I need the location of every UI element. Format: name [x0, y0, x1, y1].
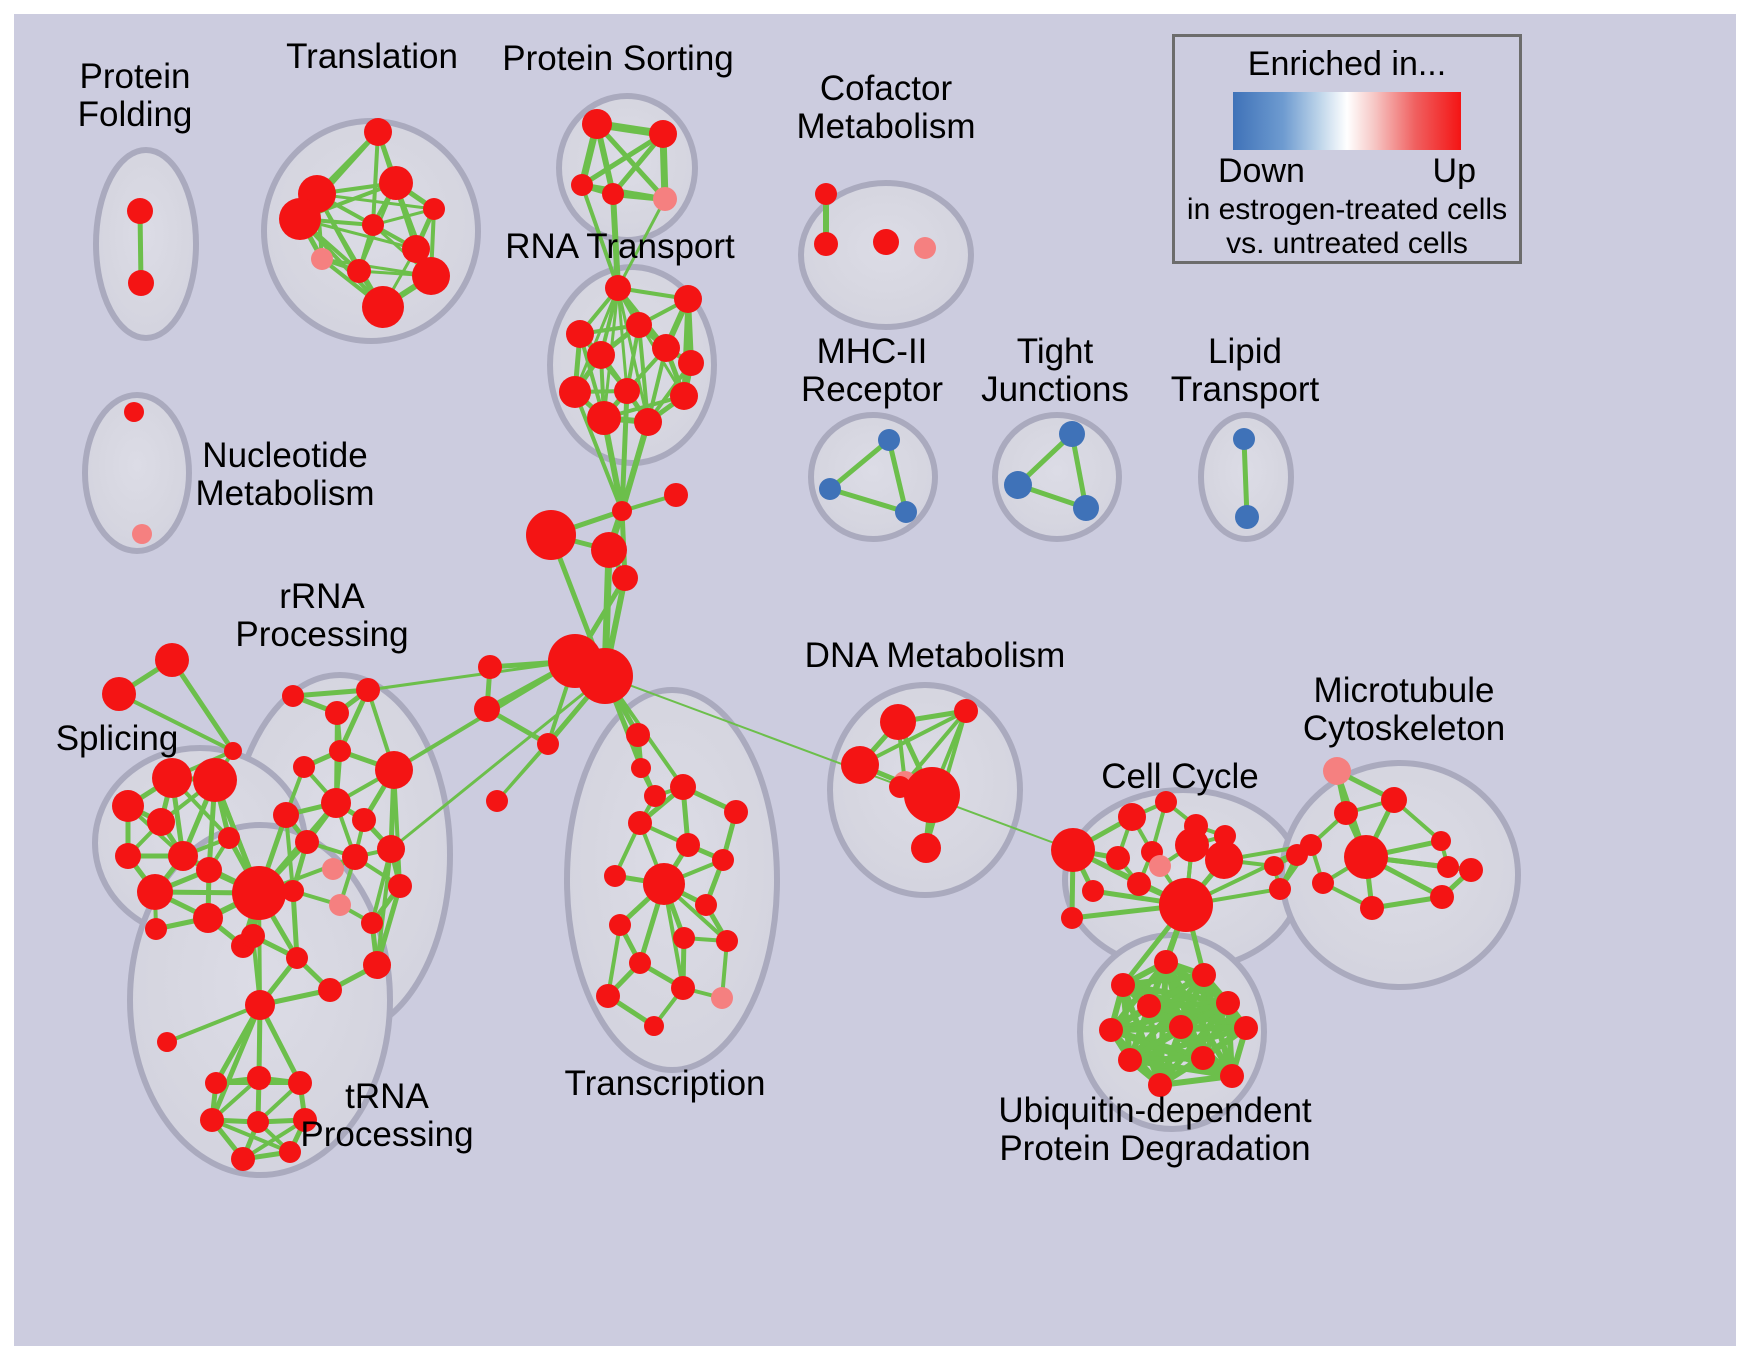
cluster-label-line: Processing [300, 1116, 473, 1154]
cluster-label-line: Transport [1171, 371, 1319, 409]
network-node[interactable] [1106, 846, 1130, 870]
network-node[interactable] [363, 951, 391, 979]
network-node[interactable] [954, 699, 978, 723]
network-node[interactable] [279, 198, 321, 240]
network-node[interactable] [325, 701, 349, 725]
network-node[interactable] [356, 678, 380, 702]
network-node[interactable] [137, 874, 173, 910]
network-node[interactable] [321, 788, 351, 818]
network-node[interactable] [329, 894, 351, 916]
network-node[interactable] [644, 1016, 664, 1036]
network-node[interactable] [873, 229, 899, 255]
network-node[interactable] [880, 704, 916, 740]
legend-title: Enriched in... [1248, 45, 1446, 84]
cluster-label-nucleotide-metabolism: NucleotideMetabolism [196, 437, 375, 513]
cluster-label-line: MHC-II [801, 333, 943, 371]
network-node[interactable] [1431, 831, 1451, 851]
network-node[interactable] [231, 1147, 255, 1171]
network-node[interactable] [605, 275, 631, 301]
network-node[interactable] [293, 756, 315, 778]
network-node[interactable] [322, 858, 344, 880]
network-node[interactable] [361, 912, 383, 934]
cluster-label-line: Cytoskeleton [1303, 710, 1505, 748]
cluster-label-protein-sorting: Protein Sorting [502, 40, 734, 78]
network-node[interactable] [342, 844, 368, 870]
network-node[interactable] [1323, 757, 1351, 785]
cluster-label-line: Cell Cycle [1101, 758, 1259, 796]
network-node[interactable] [1344, 835, 1388, 879]
legend-caption-line2: vs. untreated cells [1187, 227, 1507, 261]
network-node[interactable] [388, 874, 412, 898]
cluster-label-splicing: Splicing [56, 720, 179, 758]
cluster-ellipse-mhc-ii-receptor[interactable] [811, 415, 935, 539]
network-node[interactable] [612, 501, 632, 521]
legend-box: Enriched in... Down Up in estrogen-treat… [1172, 34, 1522, 264]
network-node[interactable] [1234, 1016, 1258, 1040]
network-node[interactable] [311, 248, 333, 270]
cluster-label-line: Protein [78, 58, 193, 96]
network-node[interactable] [224, 742, 242, 760]
network-node[interactable] [1216, 991, 1240, 1015]
cluster-label-line: Junctions [981, 371, 1129, 409]
network-node[interactable] [1137, 994, 1161, 1018]
network-node[interactable] [1082, 880, 1104, 902]
network-node[interactable] [628, 811, 652, 835]
cluster-label-line: rRNA [235, 578, 408, 616]
cluster-label-line: tRNA [300, 1078, 473, 1116]
cluster-label-line: Translation [286, 38, 458, 76]
network-node[interactable] [128, 270, 154, 296]
network-node[interactable] [626, 312, 652, 338]
network-node[interactable] [614, 378, 640, 404]
cluster-label-mhc-ii-receptor: MHC-IIReceptor [801, 333, 943, 409]
network-node[interactable] [412, 257, 450, 295]
network-node[interactable] [232, 866, 286, 920]
network-node[interactable] [596, 984, 620, 1008]
network-node[interactable] [1192, 963, 1216, 987]
network-node[interactable] [1220, 1064, 1244, 1088]
cluster-label-line: Microtubule [1303, 672, 1505, 710]
network-node[interactable] [1004, 471, 1032, 499]
network-node[interactable] [1127, 872, 1151, 896]
cluster-label-line: DNA Metabolism [805, 637, 1066, 675]
network-node[interactable] [273, 802, 299, 828]
cluster-ellipse-protein-sorting[interactable] [559, 96, 695, 240]
network-node[interactable] [815, 183, 837, 205]
network-node[interactable] [878, 429, 900, 451]
network-node[interactable] [286, 947, 308, 969]
network-node[interactable] [559, 376, 591, 408]
network-node[interactable] [1233, 428, 1255, 450]
network-node[interactable] [155, 643, 189, 677]
network-node[interactable] [247, 1111, 269, 1133]
network-node[interactable] [193, 758, 237, 802]
network-node[interactable] [649, 120, 677, 148]
network-node[interactable] [678, 350, 704, 376]
network-node[interactable] [1159, 878, 1213, 932]
network-node[interactable] [612, 565, 638, 591]
network-node[interactable] [1169, 1015, 1193, 1039]
network-node[interactable] [629, 952, 651, 974]
network-node[interactable] [318, 978, 342, 1002]
network-node[interactable] [245, 990, 275, 1020]
network-node[interactable] [377, 835, 405, 863]
network-node[interactable] [724, 800, 748, 824]
cluster-label-line: Tight [981, 333, 1129, 371]
legend-caption-line1: in estrogen-treated cells [1187, 193, 1507, 227]
cluster-label-tight-junctions: TightJunctions [981, 333, 1129, 409]
network-node[interactable] [664, 483, 688, 507]
network-node[interactable] [168, 841, 198, 871]
figure-canvas: ProteinFoldingTranslationProtein Sorting… [0, 0, 1750, 1360]
cluster-label-cell-cycle: Cell Cycle [1101, 758, 1259, 796]
network-node[interactable] [904, 767, 960, 823]
network-node[interactable] [1437, 856, 1459, 878]
network-node[interactable] [352, 808, 376, 832]
network-node[interactable] [152, 758, 192, 798]
network-node[interactable] [375, 751, 413, 789]
cluster-label-line: Splicing [56, 720, 179, 758]
cluster-label-dna-metabolism: DNA Metabolism [805, 637, 1066, 675]
cluster-label-line: Metabolism [797, 108, 976, 146]
network-node[interactable] [282, 880, 304, 902]
network-node[interactable] [609, 914, 631, 936]
cluster-label-line: RNA Transport [505, 228, 735, 266]
network-node[interactable] [145, 918, 167, 940]
network-node[interactable] [652, 334, 680, 362]
network-node[interactable] [1381, 787, 1407, 813]
network-node[interactable] [1264, 856, 1284, 876]
network-node[interactable] [1073, 495, 1099, 521]
network-node[interactable] [1118, 803, 1146, 831]
network-node[interactable] [653, 187, 677, 211]
network-node[interactable] [329, 740, 351, 762]
network-node[interactable] [591, 532, 627, 568]
network-node[interactable] [1360, 896, 1384, 920]
network-node[interactable] [1312, 872, 1334, 894]
cluster-label-line: Folding [78, 96, 193, 134]
cluster-label-cofactor-metabolism: CofactorMetabolism [797, 70, 976, 146]
network-node[interactable] [282, 685, 304, 707]
legend-color-gradient-bar [1233, 92, 1461, 150]
cluster-label-line: Cofactor [797, 70, 976, 108]
network-node[interactable] [132, 524, 152, 544]
network-node[interactable] [362, 286, 404, 328]
network-node[interactable] [193, 903, 223, 933]
network-node[interactable] [914, 237, 936, 259]
network-node[interactable] [695, 894, 717, 916]
network-node[interactable] [112, 790, 144, 822]
network-node[interactable] [1059, 421, 1085, 447]
network-node[interactable] [1099, 1018, 1123, 1042]
network-node[interactable] [1051, 828, 1095, 872]
network-node[interactable] [643, 863, 685, 905]
network-node[interactable] [102, 677, 136, 711]
network-node[interactable] [674, 285, 702, 313]
network-node[interactable] [1235, 505, 1259, 529]
cluster-label-line: Protein Sorting [502, 40, 734, 78]
network-node[interactable] [1191, 1046, 1215, 1070]
network-node[interactable] [1061, 907, 1083, 929]
network-node[interactable] [716, 930, 738, 952]
network-node[interactable] [1111, 973, 1135, 997]
network-node[interactable] [200, 1108, 224, 1132]
cluster-label-microtubule-cytoskeleton: MicrotubuleCytoskeleton [1303, 672, 1505, 748]
network-node[interactable] [1459, 858, 1483, 882]
network-node[interactable] [604, 865, 626, 887]
network-node[interactable] [279, 1141, 301, 1163]
cluster-label-rrna-processing: rRNAProcessing [235, 578, 408, 654]
network-node[interactable] [124, 402, 144, 422]
cluster-label-line: Receptor [801, 371, 943, 409]
legend-high-label: Up [1433, 152, 1476, 191]
network-node[interactable] [115, 843, 141, 869]
network-node[interactable] [1300, 834, 1322, 856]
cluster-label-translation: Translation [286, 38, 458, 76]
network-node[interactable] [1205, 841, 1243, 879]
network-node[interactable] [379, 166, 413, 200]
network-node[interactable] [1430, 885, 1454, 909]
cluster-label-trna-processing: tRNAProcessing [300, 1078, 473, 1154]
network-node[interactable] [626, 723, 650, 747]
cluster-ellipse-protein-folding[interactable] [96, 150, 196, 338]
legend-caption: in estrogen-treated cells vs. untreated … [1187, 193, 1507, 260]
network-node[interactable] [841, 746, 879, 784]
cluster-label-transcription: Transcription [565, 1065, 766, 1103]
network-node[interactable] [205, 1072, 227, 1094]
network-node[interactable] [634, 408, 662, 436]
cluster-label-lipid-transport: LipidTransport [1171, 333, 1319, 409]
legend-endpoint-labels: Down Up [1218, 152, 1476, 191]
network-node[interactable] [1149, 855, 1171, 877]
network-node[interactable] [526, 510, 576, 560]
network-node[interactable] [1118, 1048, 1142, 1072]
network-node[interactable] [814, 232, 838, 256]
network-node[interactable] [364, 118, 392, 146]
network-node[interactable] [196, 857, 222, 883]
cluster-label-line: Ubiquitin-dependent [998, 1092, 1311, 1130]
network-node[interactable] [1154, 950, 1178, 974]
network-node[interactable] [673, 927, 695, 949]
network-node[interactable] [712, 849, 734, 871]
network-node[interactable] [1334, 801, 1358, 825]
network-node[interactable] [157, 1032, 177, 1052]
network-node[interactable] [676, 833, 700, 857]
cluster-label-line: Nucleotide [196, 437, 375, 475]
network-node[interactable] [147, 808, 175, 836]
network-node[interactable] [587, 341, 615, 369]
network-node[interactable] [478, 655, 502, 679]
network-node[interactable] [711, 987, 733, 1009]
network-node[interactable] [571, 174, 593, 196]
network-node[interactable] [362, 214, 384, 236]
network-node[interactable] [537, 733, 559, 755]
cluster-label-ubiquitin-protein-degradation: Ubiquitin-dependentProtein Degradation [998, 1092, 1311, 1168]
cluster-label-line: Lipid [1171, 333, 1319, 371]
network-node[interactable] [566, 320, 594, 348]
network-node[interactable] [819, 478, 841, 500]
network-node[interactable] [631, 758, 651, 778]
network-node[interactable] [474, 696, 500, 722]
network-node[interactable] [587, 401, 621, 435]
network-node[interactable] [895, 501, 917, 523]
network-node[interactable] [577, 648, 633, 704]
cluster-label-line: Protein Degradation [998, 1130, 1311, 1168]
cluster-label-rna-transport: RNA Transport [505, 228, 735, 266]
network-node[interactable] [602, 183, 624, 205]
network-node[interactable] [911, 833, 941, 863]
network-node[interactable] [423, 198, 445, 220]
network-node[interactable] [670, 774, 696, 800]
cluster-label-line: Processing [235, 616, 408, 654]
network-node[interactable] [582, 109, 612, 139]
legend-low-label: Down [1218, 152, 1305, 191]
cluster-label-protein-folding: ProteinFolding [78, 58, 193, 134]
network-node[interactable] [671, 976, 695, 1000]
network-node[interactable] [486, 790, 508, 812]
network-node[interactable] [218, 827, 240, 849]
network-node[interactable] [295, 830, 319, 854]
network-node[interactable] [127, 198, 153, 224]
network-node[interactable] [1175, 828, 1209, 862]
network-node[interactable] [347, 259, 371, 283]
network-node[interactable] [644, 785, 666, 807]
cluster-label-line: Transcription [565, 1065, 766, 1103]
network-node[interactable] [247, 1066, 271, 1090]
cluster-label-line: Metabolism [196, 475, 375, 513]
network-node[interactable] [670, 382, 698, 410]
network-node[interactable] [241, 924, 265, 948]
network-node[interactable] [1269, 878, 1291, 900]
